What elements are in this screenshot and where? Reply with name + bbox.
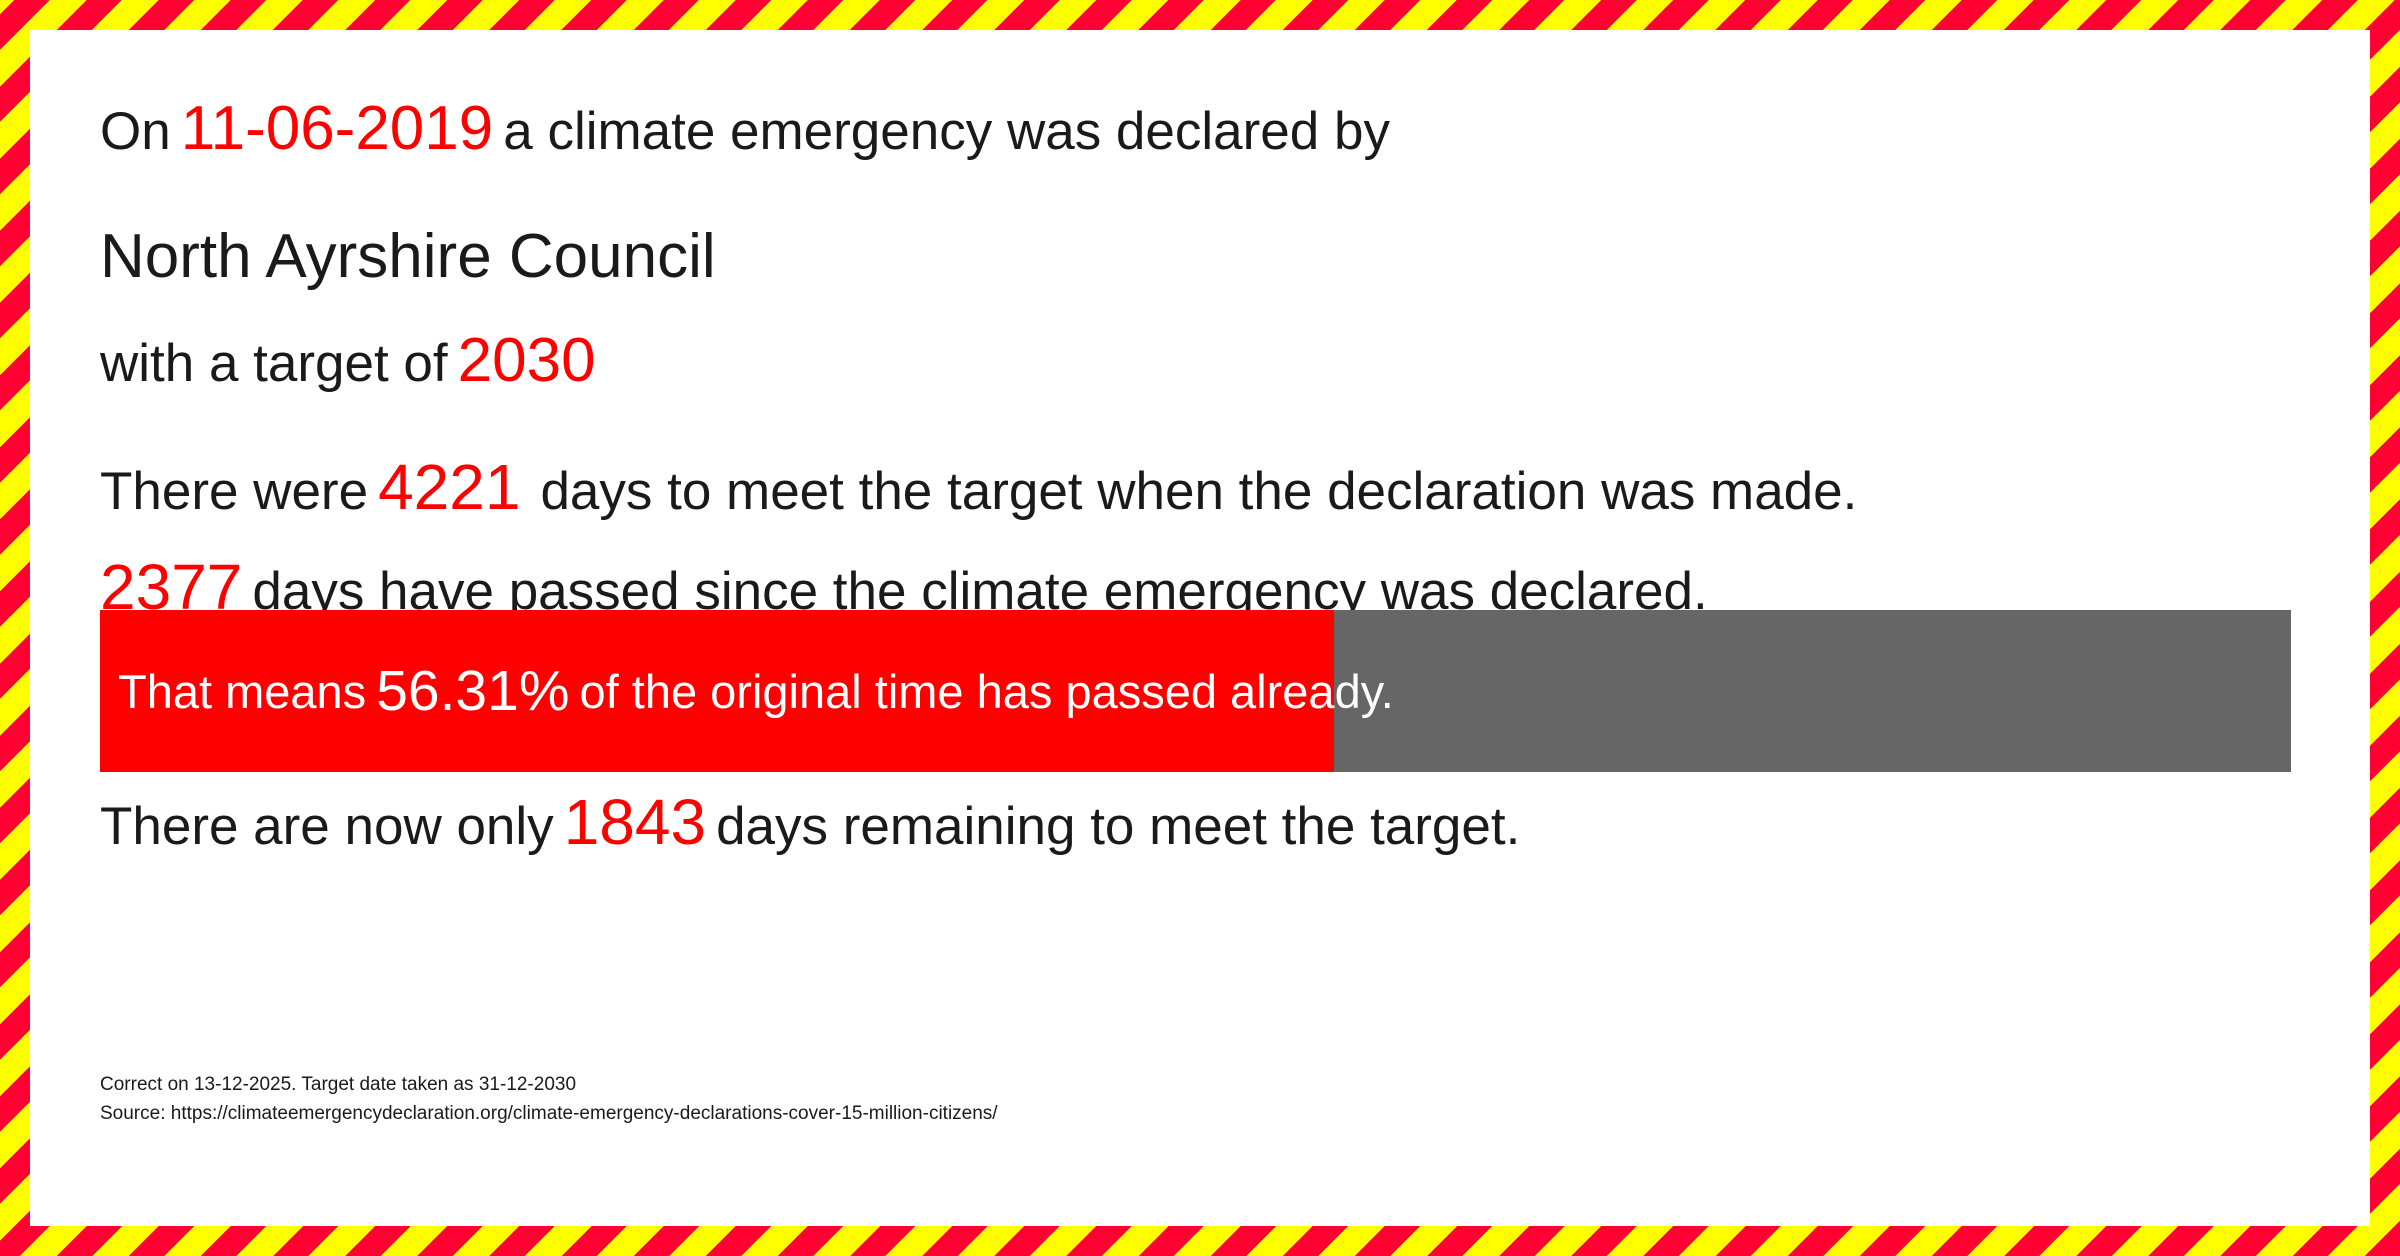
days-remaining-suffix-text: days remaining to meet the target. (716, 797, 1520, 856)
declaring-authority-name: North Ayrshire Council (100, 226, 716, 288)
poster-frame: On11-06-2019a climate emergency was decl… (0, 0, 2400, 1256)
content-card: On11-06-2019a climate emergency was decl… (30, 30, 2370, 1226)
progress-suffix-text: of the original time has passed already. (580, 664, 1394, 719)
days-remaining-prefix-text: There are now only (100, 797, 554, 856)
declaration-suffix-text: a climate emergency was declared by (503, 102, 1390, 161)
target-prefix-text: with a target of (100, 334, 448, 393)
time-elapsed-progress-bar: That means56.31%of the original time has… (100, 610, 2291, 772)
days-to-target-line: There were4221days to meet the target wh… (100, 455, 1857, 519)
days-remaining-line: There are now only1843days remaining to … (100, 790, 1520, 854)
progress-prefix-text: That means (118, 664, 366, 719)
days-remaining-value: 1843 (564, 786, 706, 858)
declaration-prefix-text: On (100, 102, 171, 161)
target-year-value: 2030 (458, 326, 596, 395)
footer-source: Source: https://climateemergencydeclarat… (100, 1099, 998, 1128)
declaration-date-line: On11-06-2019a climate emergency was decl… (100, 98, 1390, 160)
target-year-line: with a target of2030 (100, 330, 596, 392)
footer-correct-on: Correct on 13-12-2025. Target date taken… (100, 1070, 998, 1099)
progress-bar-label: That means56.31%of the original time has… (118, 610, 1394, 772)
progress-percent-value: 56.31% (376, 658, 569, 724)
days-to-target-suffix-text: days to meet the target when the declara… (540, 462, 1857, 521)
footer-notes: Correct on 13-12-2025. Target date taken… (100, 1070, 998, 1129)
days-to-target-value: 4221 (378, 451, 520, 523)
declaration-date-value: 11-06-2019 (181, 94, 494, 163)
content-inner: On11-06-2019a climate emergency was decl… (100, 30, 2330, 1226)
days-to-target-prefix-text: There were (100, 462, 368, 521)
